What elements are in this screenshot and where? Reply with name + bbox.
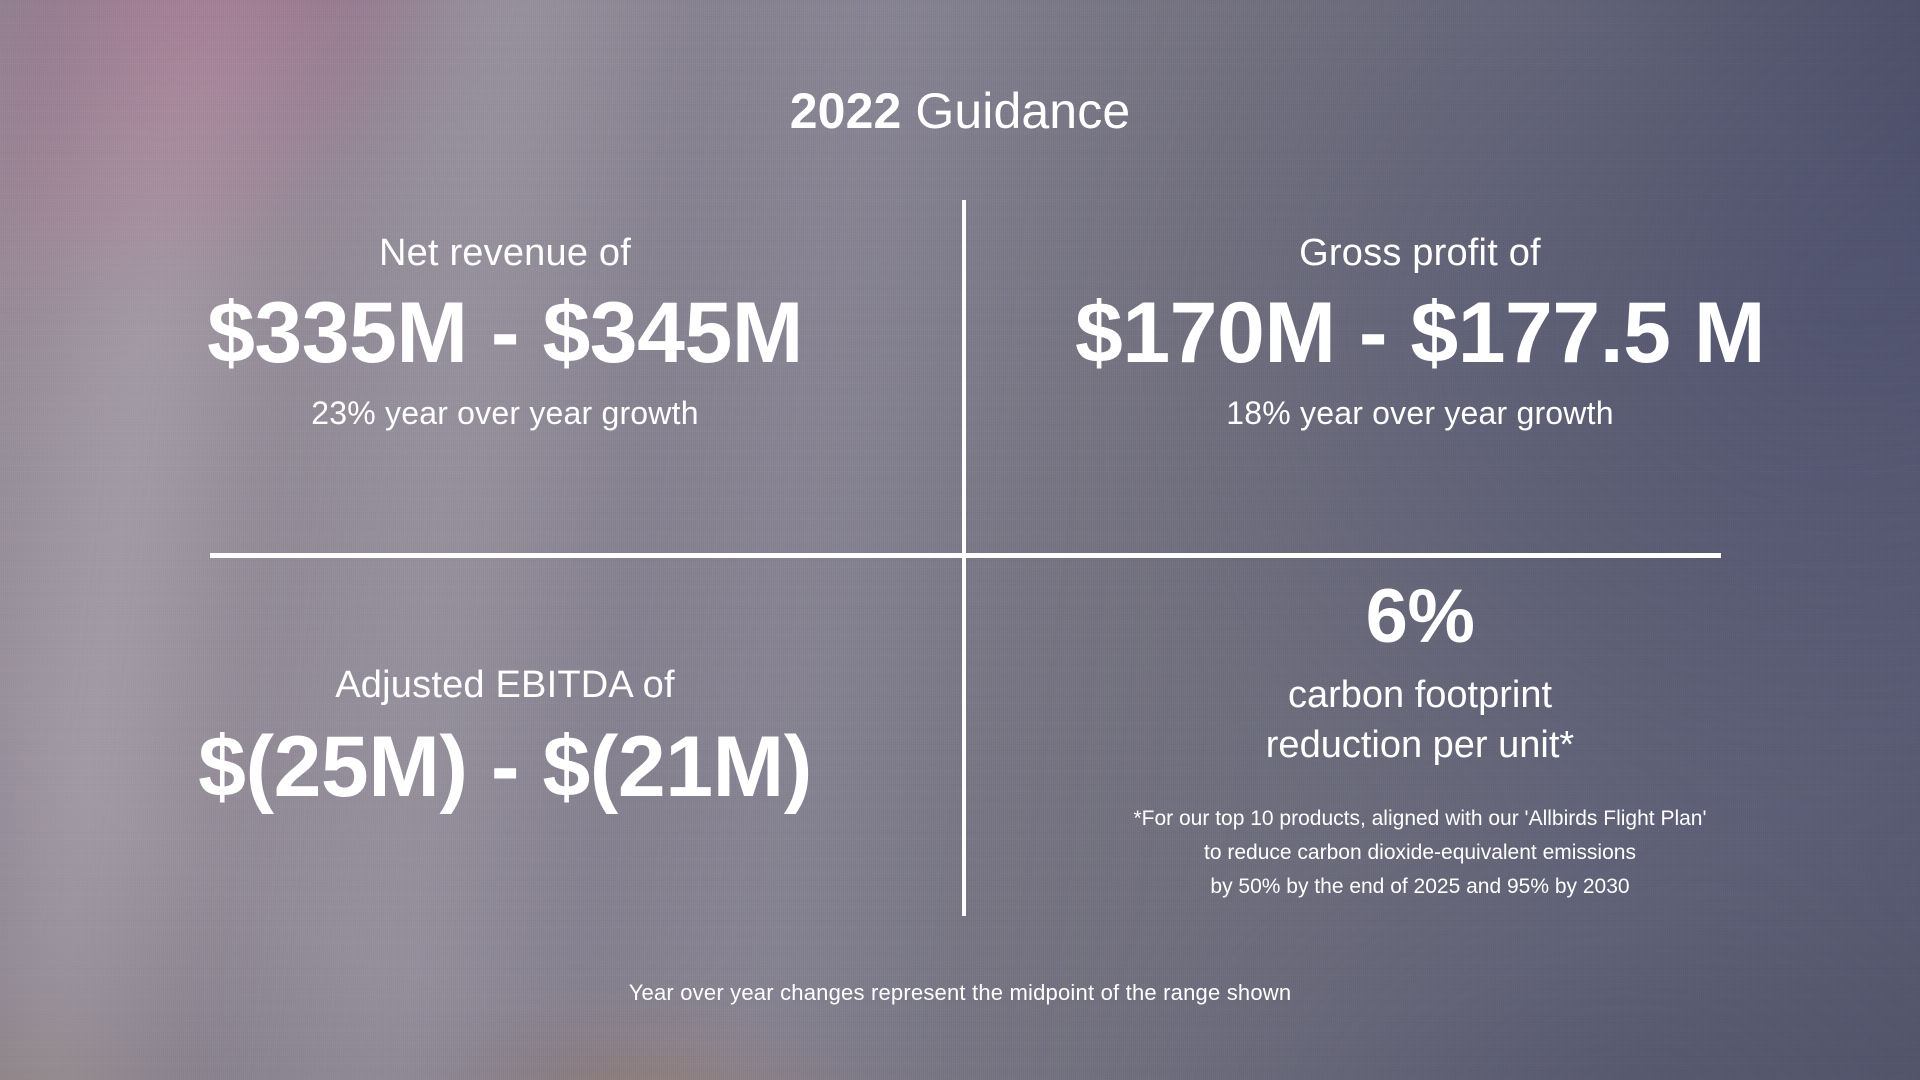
slide-content: 2022 Guidance Net revenue of $335M - $34… [0, 0, 1920, 1080]
carbon-footprint-footnote: *For our top 10 products, aligned with o… [975, 802, 1865, 904]
carbon-footnote-line-3: by 50% by the end of 2025 and 95% by 203… [975, 870, 1865, 904]
page-title-word: Guidance [901, 83, 1130, 139]
quadrant-net-revenue: Net revenue of $335M - $345M 23% year ov… [60, 232, 950, 432]
carbon-description-line-1: carbon footprint [975, 670, 1865, 720]
net-revenue-growth-note: 23% year over year growth [60, 395, 950, 432]
divider-horizontal [210, 553, 1721, 558]
carbon-description-line-2: reduction per unit* [975, 720, 1865, 770]
adjusted-ebitda-value: $(25M) - $(21M) [60, 724, 950, 812]
gross-profit-value: $170M - $177.5 M [975, 290, 1865, 378]
adjusted-ebitda-label: Adjusted EBITDA of [60, 664, 950, 708]
quadrant-carbon-footprint: 6% carbon footprint reduction per unit* … [975, 578, 1865, 904]
gross-profit-label: Gross profit of [975, 232, 1865, 276]
page-title: 2022 Guidance [0, 82, 1920, 140]
carbon-footnote-line-2: to reduce carbon dioxide-equivalent emis… [975, 836, 1865, 870]
slide-caption: Year over year changes represent the mid… [0, 980, 1920, 1006]
quadrant-gross-profit: Gross profit of $170M - $177.5 M 18% yea… [975, 232, 1865, 432]
page-title-year: 2022 [790, 83, 902, 139]
net-revenue-label: Net revenue of [60, 232, 950, 276]
net-revenue-value: $335M - $345M [60, 290, 950, 378]
quadrant-adjusted-ebitda: Adjusted EBITDA of $(25M) - $(21M) [60, 664, 950, 811]
divider-vertical [962, 200, 966, 916]
carbon-footprint-description: carbon footprint reduction per unit* [975, 670, 1865, 770]
carbon-footnote-line-1: *For our top 10 products, aligned with o… [975, 802, 1865, 836]
carbon-footprint-value: 6% [975, 578, 1865, 656]
gross-profit-growth-note: 18% year over year growth [975, 395, 1865, 432]
guidance-slide: 2022 Guidance Net revenue of $335M - $34… [0, 0, 1920, 1080]
